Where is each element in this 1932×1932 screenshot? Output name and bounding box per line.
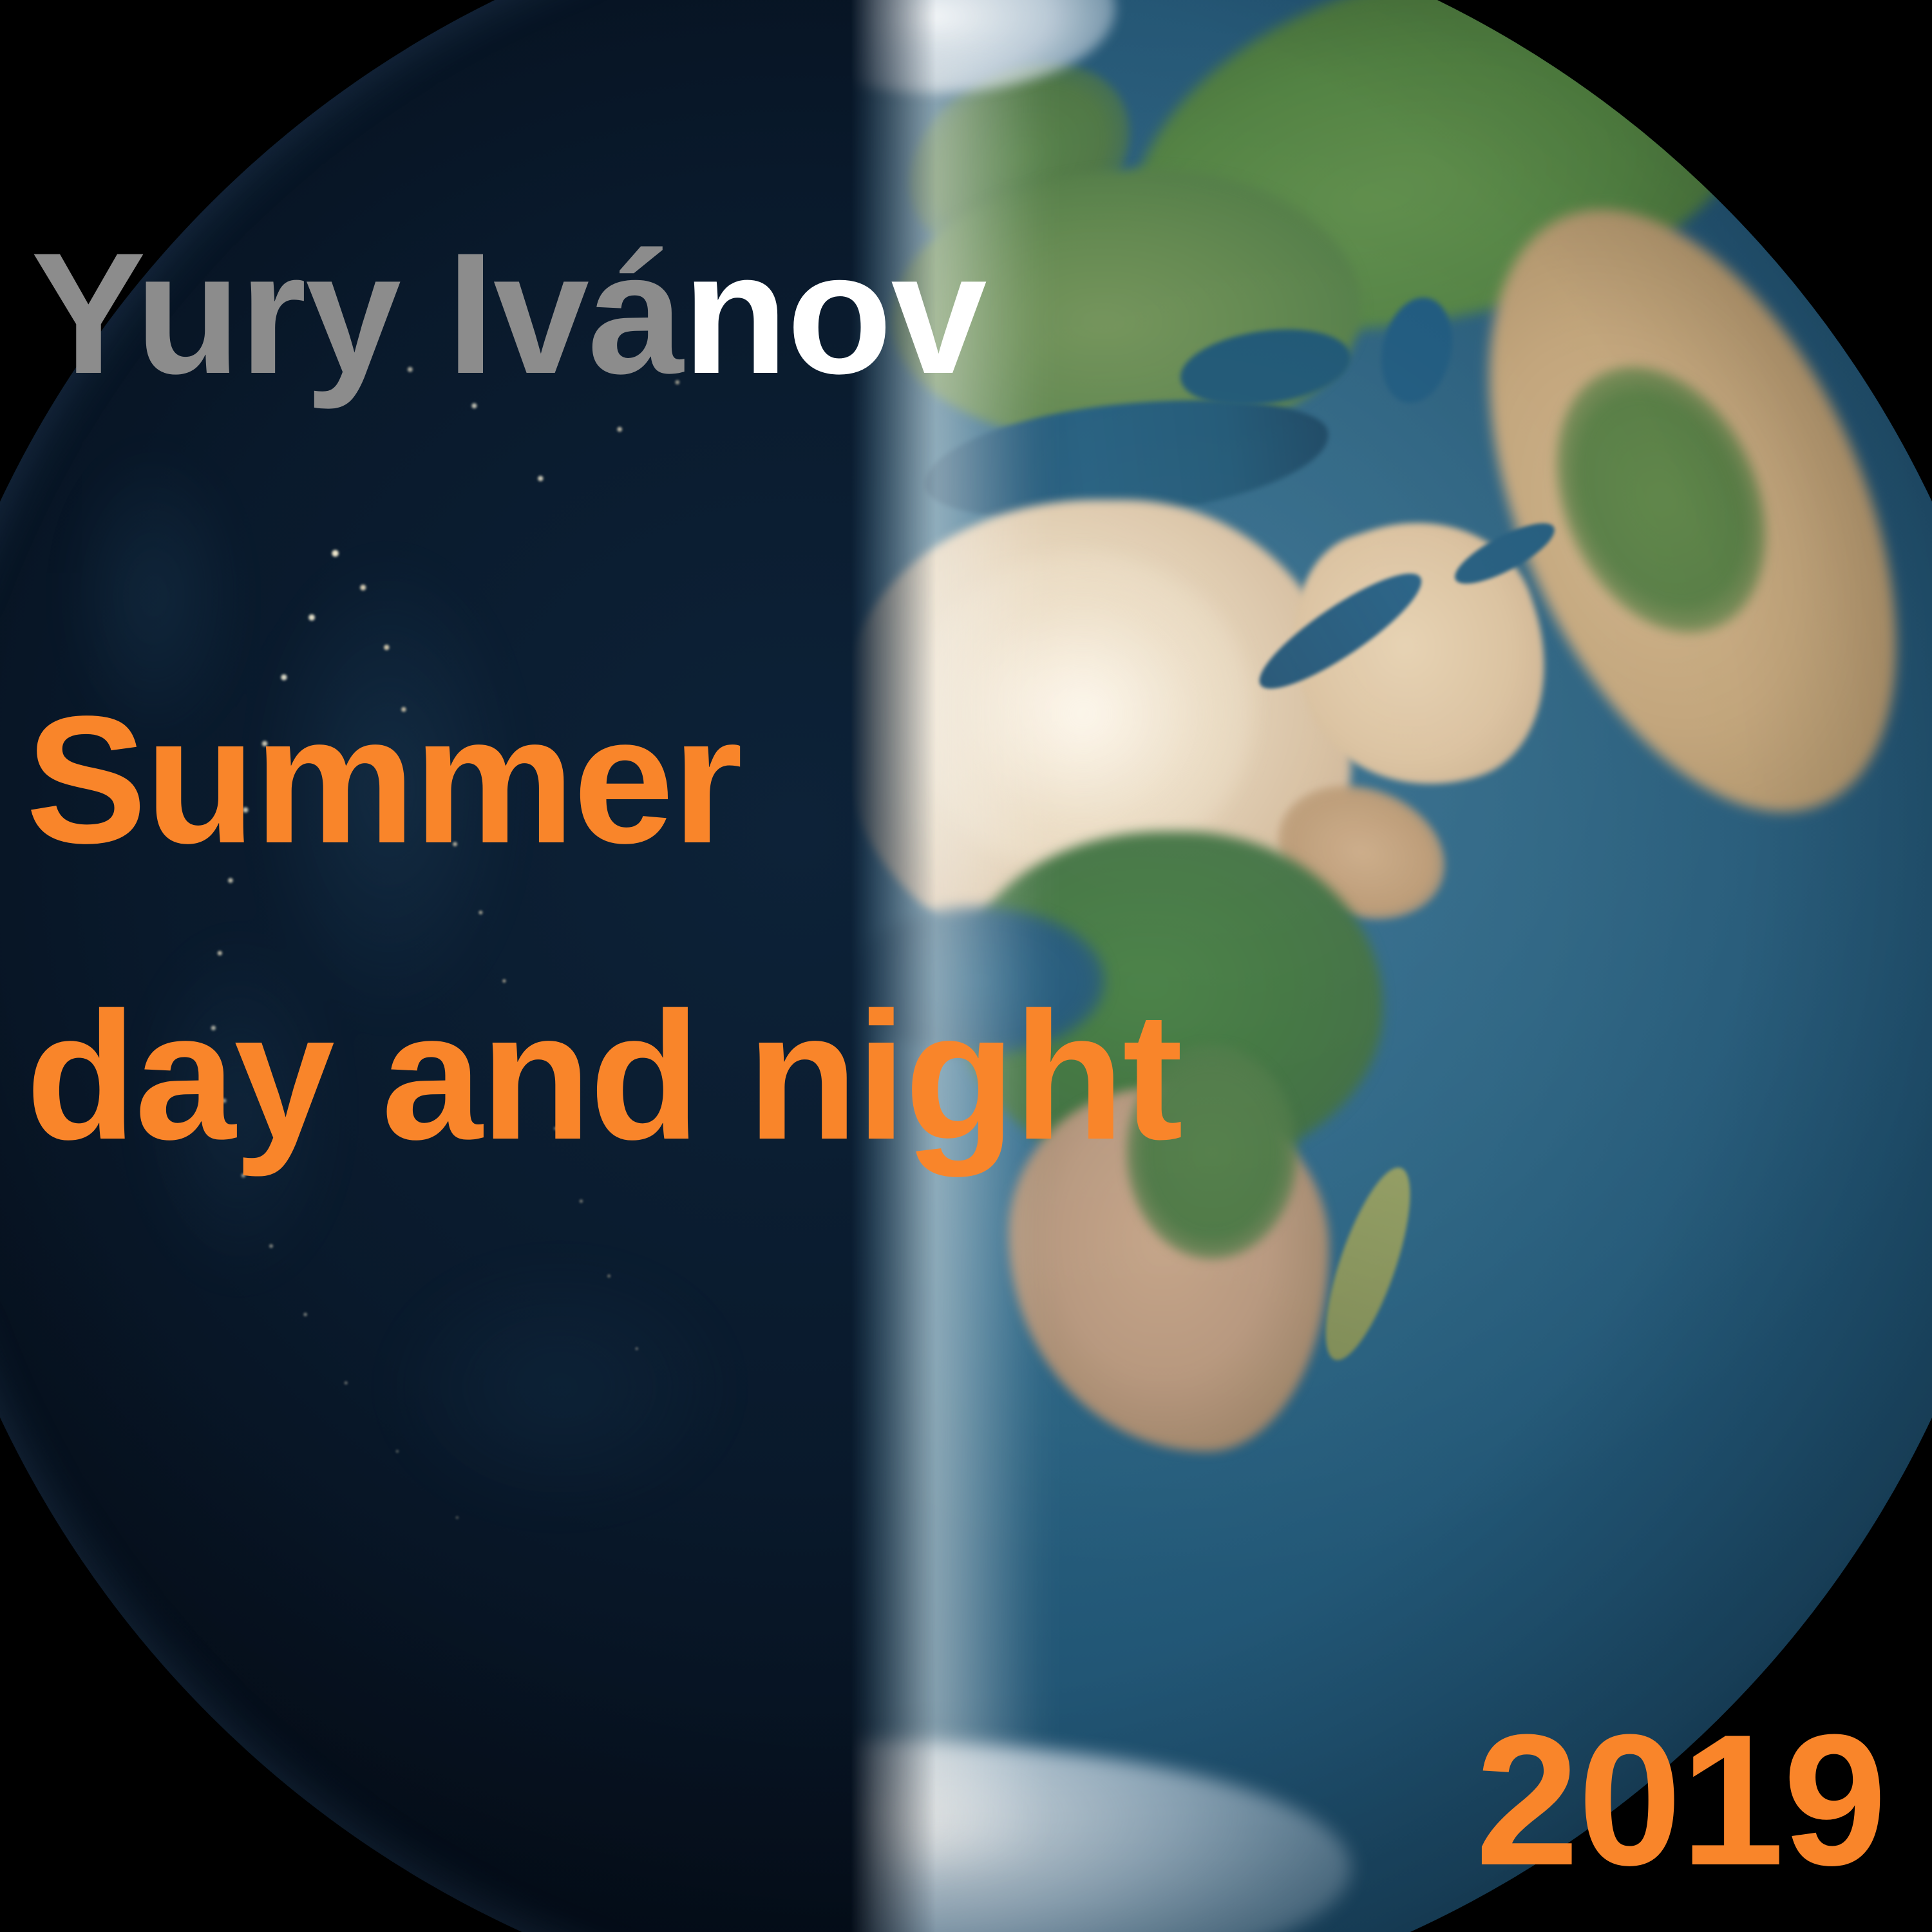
year-label: 2019 [1475,1707,1886,1893]
title-line-2: day and night [26,985,1181,1167]
author-name: Yury Ivánov [31,227,986,399]
author-name-gray-part: Yury Ivá [31,216,683,410]
author-name-white-part: nov [683,216,985,410]
album-cover: Yury Ivánov Summer day and night 2019 [0,0,1932,1932]
title-line-1: Summer [26,689,741,871]
